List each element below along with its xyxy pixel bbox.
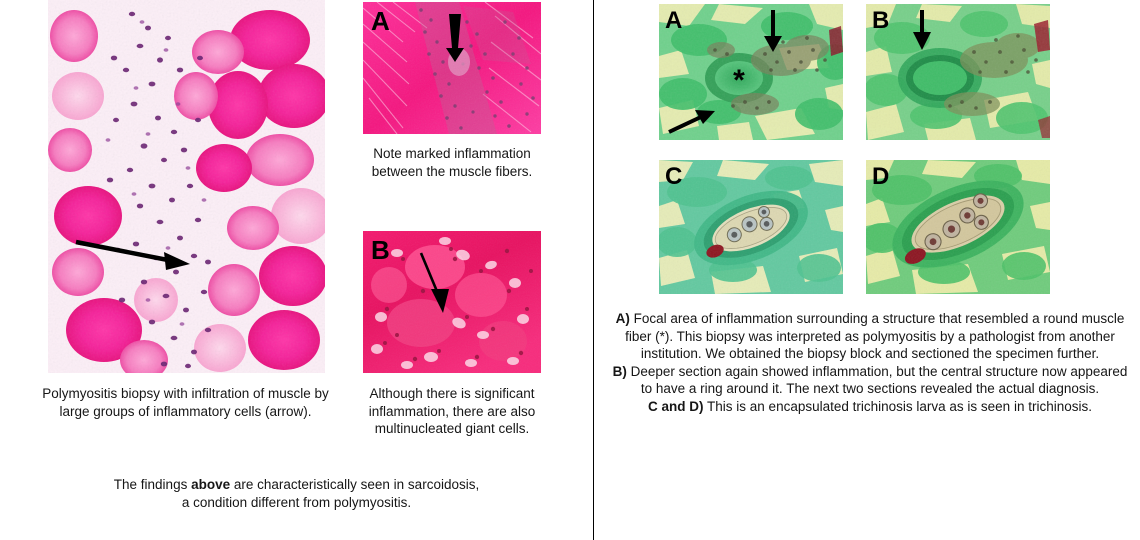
- panel-letter-a: A: [665, 9, 682, 33]
- polymyositis-biopsy-image: [48, 0, 325, 373]
- caption-text-cd: This is an encapsulated trichinosis larv…: [704, 399, 1092, 414]
- right-figure-caption: A) Focal area of inflammation surroundin…: [608, 310, 1132, 415]
- panel-letter-b: B: [371, 237, 389, 263]
- caption-paragraph-b: B) Deeper section again showed inflammat…: [608, 363, 1132, 398]
- caption-label-a: A): [616, 311, 630, 326]
- sarcoid-panel-b-micrograph: B: [363, 231, 541, 373]
- panel-letter-c: C: [665, 165, 682, 189]
- sarcoid-panel-b-image: [363, 231, 541, 373]
- caption-text-b: Deeper section again showed inflammation…: [627, 364, 1128, 397]
- left-summary-text: The findings above are characteristicall…: [20, 476, 573, 511]
- section-divider: [593, 0, 594, 540]
- caption-paragraph-a: A) Focal area of inflammation surroundin…: [608, 310, 1132, 363]
- caption-text-a: Focal area of inflammation surrounding a…: [625, 311, 1124, 361]
- trichinosis-panel-c-image: [659, 160, 843, 294]
- polymyositis-biopsy-caption: Polymyositis biopsy with infiltration of…: [28, 385, 343, 420]
- trichinosis-panel-b-image: [866, 4, 1050, 140]
- summary-line1-bold: above: [191, 477, 230, 492]
- caption-paragraph-cd: C and D) This is an encapsulated trichin…: [608, 398, 1132, 416]
- right-figure-section: * A: [600, 0, 1140, 540]
- trichinosis-panel-d-image: [866, 160, 1050, 294]
- sarcoid-panel-a-caption: Note marked inflammation between the mus…: [352, 145, 552, 180]
- summary-line1-post: are characteristically seen in sarcoidos…: [230, 477, 479, 492]
- sarcoid-panel-a-image: [363, 2, 541, 134]
- panel-letter-a: A: [371, 8, 389, 34]
- polymyositis-biopsy-micrograph: [48, 0, 325, 373]
- trichinosis-panel-a-micrograph: * A: [659, 4, 843, 140]
- panel-letter-b: B: [872, 9, 889, 33]
- left-figure-section: Polymyositis biopsy with infiltration of…: [0, 0, 593, 540]
- caption-label-cd: C and D): [648, 399, 704, 414]
- figure-page: Polymyositis biopsy with infiltration of…: [0, 0, 1140, 540]
- trichinosis-panel-c-micrograph: C: [659, 160, 843, 294]
- sarcoid-panel-b-caption: Although there is significant inflammati…: [346, 385, 558, 438]
- summary-line1-pre: The findings: [114, 477, 191, 492]
- trichinosis-panel-b-micrograph: B: [866, 4, 1050, 140]
- caption-label-b: B): [613, 364, 627, 379]
- asterisk-annotation: *: [733, 64, 745, 97]
- sarcoid-panel-a-micrograph: A: [363, 2, 541, 134]
- trichinosis-panel-d-micrograph: D: [866, 160, 1050, 294]
- trichinosis-panel-a-image: *: [659, 4, 843, 140]
- panel-letter-d: D: [872, 165, 889, 189]
- summary-line2: a condition different from polymyositis.: [182, 495, 411, 510]
